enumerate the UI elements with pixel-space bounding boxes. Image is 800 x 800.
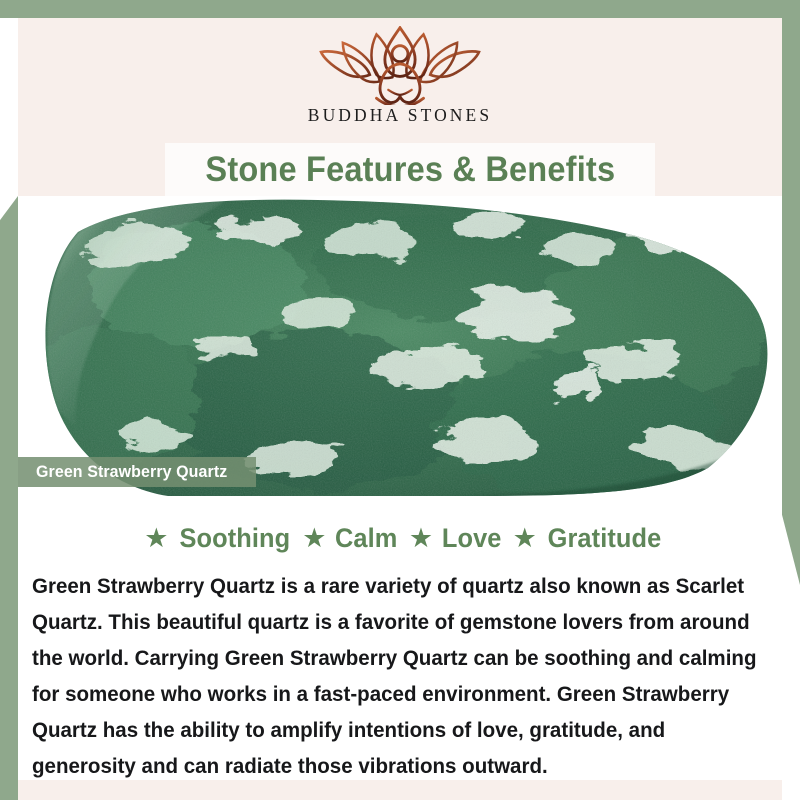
keyword-label: Love (442, 523, 502, 554)
keyword-item-calm: ★ Calm (293, 523, 400, 554)
keyword-item-love: ★ Love (400, 523, 504, 554)
content-body: ★ Soothing ★ Calm ★ Love ★ Gratitude Gre… (18, 496, 782, 780)
frame-band-right (782, 0, 800, 585)
star-icon: ★ (144, 525, 168, 552)
photo-caption-label: Green Strawberry Quartz (36, 462, 227, 482)
brand-logo: BUDDHA STONES (18, 18, 782, 143)
photo-caption: Green Strawberry Quartz (18, 457, 256, 487)
stone-photo: Green Strawberry Quartz (18, 196, 782, 496)
keyword-label: Calm (335, 523, 397, 554)
keyword-item-soothing: ★ Soothing (135, 523, 293, 554)
poster-root: BUDDHA STONES Stone Features & Benefits (0, 0, 800, 800)
keyword-list: ★ Soothing ★ Calm ★ Love ★ Gratitude (18, 514, 782, 562)
frame-band-top (0, 0, 800, 18)
frame-band-left (0, 196, 18, 800)
keyword-label: Soothing (179, 523, 290, 554)
keyword-label: Gratitude (547, 523, 661, 554)
brand-name: BUDDHA STONES (308, 105, 492, 126)
keyword-item-gratitude: ★ Gratitude (504, 523, 665, 554)
star-icon: ★ (409, 525, 433, 552)
header: BUDDHA STONES Stone Features & Benefits (18, 18, 782, 196)
description-paragraph: Green Strawberry Quartz is a rare variet… (32, 568, 762, 784)
title-banner: Stone Features & Benefits (165, 143, 655, 196)
page-title: Stone Features & Benefits (205, 150, 615, 190)
star-icon: ★ (513, 525, 537, 552)
star-icon: ★ (302, 525, 326, 552)
lotus-meditation-icon (316, 26, 484, 104)
footer-strip (18, 780, 782, 800)
